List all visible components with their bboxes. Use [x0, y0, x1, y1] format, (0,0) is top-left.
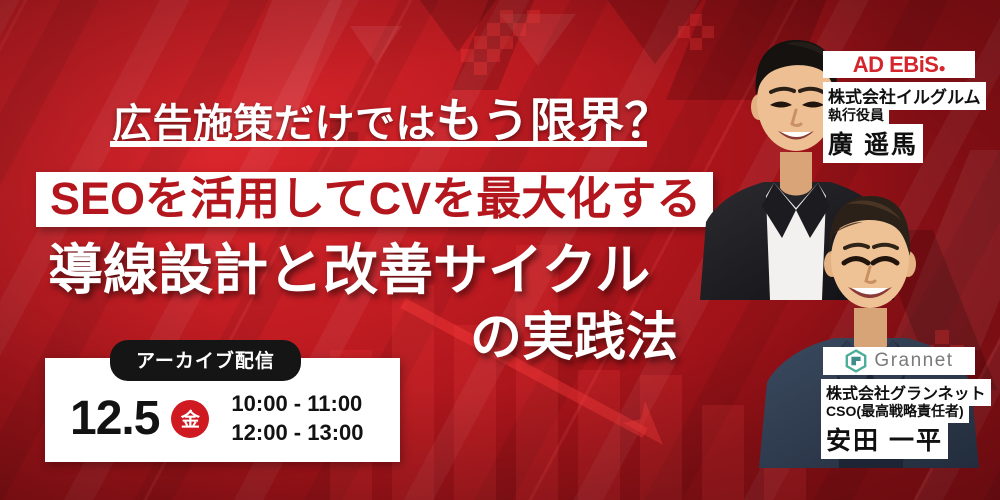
speaker-1-name: 廣 遥馬: [823, 124, 923, 163]
headline-line-4: の実践法: [470, 312, 678, 364]
headline-line-2: SEOを活用してCVを最大化する: [50, 176, 701, 221]
schedule-date: 12.5: [70, 395, 159, 443]
speaker-2-name: 安田 一平: [821, 420, 948, 459]
adebis-logo-text: AD EBiS●: [853, 54, 946, 76]
headline-line-1-normal: 広告施策だけでは: [112, 102, 436, 146]
headline-line-2-band: SEOを活用してCVを最大化する: [36, 172, 713, 227]
schedule-time-slot-2: 12:00 - 13:00: [231, 419, 363, 448]
registered-dot-icon: ●: [939, 61, 946, 75]
hexagon-icon: [844, 349, 868, 373]
schedule-day-of-week-badge: 金: [171, 400, 209, 438]
headline-line-3: 導線設計と改善サイクル: [48, 243, 650, 298]
headline-underline-rule: [110, 141, 647, 147]
headline-line-1-emphasis: もう限界？: [436, 94, 672, 147]
archive-badge: アーカイブ配信: [110, 340, 301, 381]
webinar-banner: 広告施策だけではもう限界？ SEOを活用してCVを最大化する 導線設計と改善サイ…: [0, 0, 1000, 500]
schedule-row: 12.5 金 10:00 - 11:00 12:00 - 13:00: [45, 375, 400, 462]
schedule-times: 10:00 - 11:00 12:00 - 13:00: [231, 390, 363, 447]
grannet-logo-text: Grannet: [874, 350, 953, 372]
grannet-logo: Grannet: [823, 347, 975, 375]
schedule-time-slot-1: 10:00 - 11:00: [231, 390, 363, 419]
adebis-logo: AD EBiS●: [823, 51, 975, 78]
